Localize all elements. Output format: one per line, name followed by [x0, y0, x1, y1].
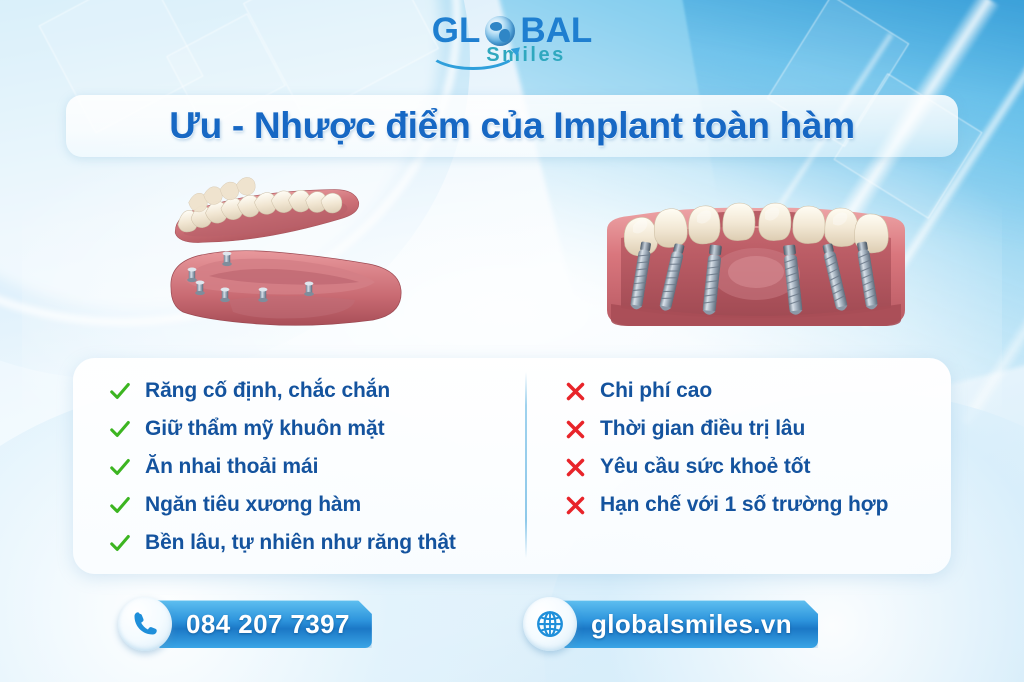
check-icon — [109, 494, 131, 516]
list-item: Yêu cầu sức khoẻ tốt — [565, 448, 951, 486]
title-banner: Ưu - Nhược điểm của Implant toàn hàm — [66, 95, 958, 157]
list-item: Hạn chế với 1 số trường hợp — [565, 486, 951, 524]
check-icon — [109, 456, 131, 478]
list-item-label: Chi phí cao — [600, 379, 712, 403]
logo-text-bal: BAL — [520, 13, 592, 48]
list-item: Ngăn tiêu xương hàm — [109, 486, 525, 524]
list-item: Ăn nhai thoải mái — [109, 448, 525, 486]
implant-cross-section-illustration — [603, 192, 909, 338]
phone-handset-glyph — [130, 609, 160, 639]
list-item: Giữ thẩm mỹ khuôn mặt — [109, 410, 525, 448]
list-item-label: Hạn chế với 1 số trường hợp — [600, 493, 888, 517]
phone-number[interactable]: 084 207 7397 — [146, 600, 372, 648]
list-item-label: Giữ thẩm mỹ khuôn mặt — [145, 417, 384, 441]
list-item: Thời gian điều trị lâu — [565, 410, 951, 448]
page-title: Ưu - Nhược điểm của Implant toàn hàm — [169, 105, 855, 147]
list-item-label: Răng cố định, chắc chắn — [145, 379, 390, 403]
cross-icon — [565, 381, 586, 402]
column-divider — [525, 372, 527, 558]
cross-icon — [565, 419, 586, 440]
infographic-poster: GL BAL Smiles Ưu - Nhược điểm của Implan… — [0, 0, 1024, 682]
list-item-label: Thời gian điều trị lâu — [600, 417, 805, 441]
list-item: Răng cố định, chắc chắn — [109, 372, 525, 410]
phone-icon — [118, 597, 172, 651]
full-arch-overdenture-illustration — [163, 168, 409, 334]
phone-contact-bar[interactable]: 084 207 7397 — [118, 600, 372, 648]
logo-tagline-row: Smiles — [397, 44, 627, 67]
smile-swoosh-icon — [427, 30, 519, 70]
check-icon — [109, 380, 131, 402]
check-icon — [109, 532, 131, 554]
pros-column: Răng cố định, chắc chắn Giữ thẩm mỹ khuô… — [73, 358, 525, 574]
cross-icon — [565, 457, 586, 478]
list-item: Chi phí cao — [565, 372, 951, 410]
cons-column: Chi phí cao Thời gian điều trị lâu Yêu c… — [525, 358, 951, 574]
list-item-label: Ngăn tiêu xương hàm — [145, 493, 361, 517]
globe-glyph — [535, 609, 565, 639]
list-item-label: Yêu cầu sức khoẻ tốt — [600, 455, 810, 479]
cross-icon — [565, 495, 586, 516]
website-contact-bar[interactable]: globalsmiles.vn — [523, 600, 818, 648]
list-item: Bền lâu, tự nhiên như răng thật — [109, 524, 525, 562]
list-item-label: Bền lâu, tự nhiên như răng thật — [145, 531, 456, 555]
pros-cons-card: Răng cố định, chắc chắn Giữ thẩm mỹ khuô… — [73, 358, 951, 574]
list-item-label: Ăn nhai thoải mái — [145, 455, 318, 479]
globe-icon — [523, 597, 577, 651]
website-url[interactable]: globalsmiles.vn — [551, 600, 818, 648]
check-icon — [109, 418, 131, 440]
brand-logo: GL BAL Smiles — [397, 6, 627, 74]
